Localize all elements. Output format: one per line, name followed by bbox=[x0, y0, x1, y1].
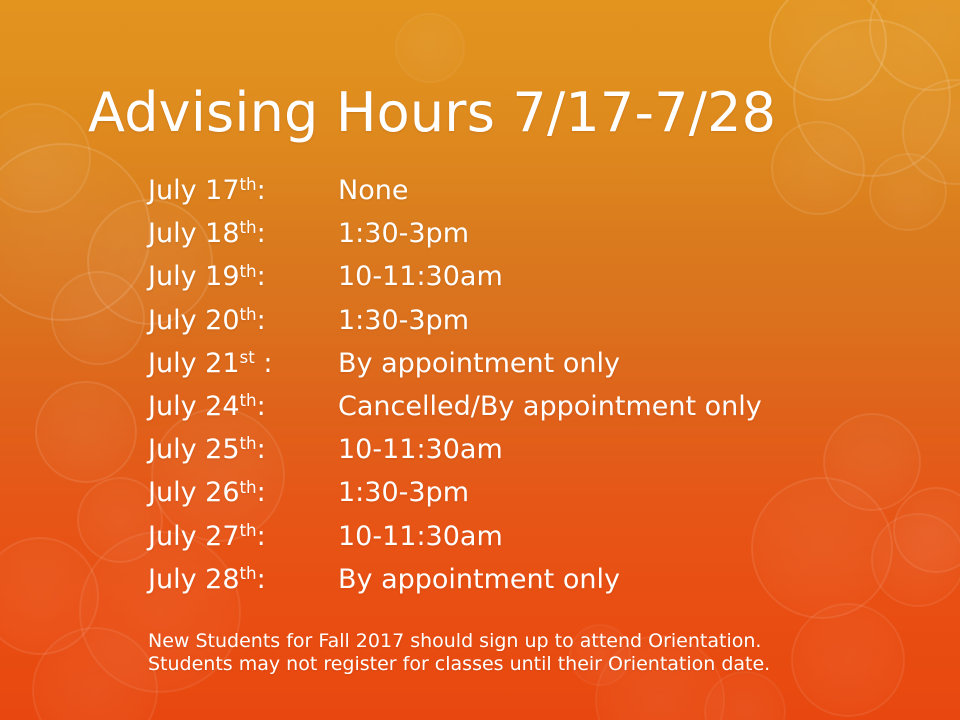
slide-canvas: Advising Hours 7/17-7/28 July 17th: None… bbox=[0, 0, 960, 720]
schedule-date: July 26th: bbox=[148, 476, 266, 510]
schedule-date: July 28th: bbox=[148, 563, 266, 597]
schedule-date-separator: : bbox=[257, 477, 266, 508]
ordinal-suffix: th bbox=[240, 217, 257, 237]
ordinal-suffix: th bbox=[240, 174, 257, 194]
schedule-date-prefix: July 27 bbox=[148, 521, 240, 552]
advising-hours-list: July 17th: None July 18th: 1:30-3pm July… bbox=[0, 174, 960, 606]
schedule-hours: None bbox=[338, 174, 408, 208]
schedule-date-prefix: July 26 bbox=[148, 477, 240, 508]
orientation-note: New Students for Fall 2017 should sign u… bbox=[148, 630, 770, 675]
schedule-date-prefix: July 24 bbox=[148, 391, 240, 422]
schedule-date-prefix: July 25 bbox=[148, 434, 240, 465]
schedule-hours: By appointment only bbox=[338, 563, 620, 597]
ordinal-suffix: st bbox=[240, 347, 255, 367]
schedule-date: July 24th: bbox=[148, 390, 266, 424]
schedule-hours: Cancelled/By appointment only bbox=[338, 390, 762, 424]
ordinal-suffix: th bbox=[240, 477, 257, 497]
list-item: July 24th: Cancelled/By appointment only bbox=[0, 390, 960, 433]
ordinal-suffix: th bbox=[240, 261, 257, 281]
ordinal-suffix: th bbox=[240, 563, 257, 583]
list-item: July 21st : By appointment only bbox=[0, 347, 960, 390]
schedule-date-separator: : bbox=[257, 391, 266, 422]
schedule-date: July 27th: bbox=[148, 520, 266, 554]
ordinal-suffix: th bbox=[240, 304, 257, 324]
schedule-date: July 20th: bbox=[148, 304, 266, 338]
schedule-date-prefix: July 21 bbox=[148, 348, 240, 379]
orientation-note-line-2: Students may not register for classes un… bbox=[148, 653, 770, 676]
page-title: Advising Hours 7/17-7/28 bbox=[88, 80, 776, 146]
schedule-date-prefix: July 17 bbox=[148, 175, 240, 206]
schedule-date: July 25th: bbox=[148, 433, 266, 467]
list-item: July 28th: By appointment only bbox=[0, 563, 960, 606]
schedule-hours: 1:30-3pm bbox=[338, 304, 469, 338]
schedule-date-separator: : bbox=[255, 348, 273, 379]
orientation-note-line-1: New Students for Fall 2017 should sign u… bbox=[148, 630, 770, 653]
list-item: July 17th: None bbox=[0, 174, 960, 217]
list-item: July 25th: 10-11:30am bbox=[0, 433, 960, 476]
ordinal-suffix: th bbox=[240, 433, 257, 453]
ordinal-suffix: th bbox=[240, 390, 257, 410]
schedule-hours: 1:30-3pm bbox=[338, 476, 469, 510]
schedule-date: July 17th: bbox=[148, 174, 266, 208]
schedule-date-prefix: July 20 bbox=[148, 305, 240, 336]
list-item: July 20th: 1:30-3pm bbox=[0, 304, 960, 347]
schedule-date-separator: : bbox=[257, 218, 266, 249]
list-item: July 19th: 10-11:30am bbox=[0, 260, 960, 303]
schedule-date-separator: : bbox=[257, 521, 266, 552]
list-item: July 27th: 10-11:30am bbox=[0, 520, 960, 563]
schedule-hours: 10-11:30am bbox=[338, 433, 503, 467]
schedule-date-separator: : bbox=[257, 305, 266, 336]
schedule-date: July 19th: bbox=[148, 260, 266, 294]
schedule-hours: 10-11:30am bbox=[338, 520, 503, 554]
schedule-hours: By appointment only bbox=[338, 347, 620, 381]
list-item: July 18th: 1:30-3pm bbox=[0, 217, 960, 260]
schedule-date-prefix: July 28 bbox=[148, 564, 240, 595]
ordinal-suffix: th bbox=[240, 520, 257, 540]
schedule-date-separator: : bbox=[257, 564, 266, 595]
schedule-date-prefix: July 18 bbox=[148, 218, 240, 249]
schedule-date-separator: : bbox=[257, 261, 266, 292]
schedule-date: July 21st : bbox=[148, 347, 272, 381]
schedule-hours: 10-11:30am bbox=[338, 260, 503, 294]
list-item: July 26th: 1:30-3pm bbox=[0, 476, 960, 519]
schedule-date-separator: : bbox=[257, 434, 266, 465]
schedule-hours: 1:30-3pm bbox=[338, 217, 469, 251]
schedule-date-prefix: July 19 bbox=[148, 261, 240, 292]
schedule-date: July 18th: bbox=[148, 217, 266, 251]
schedule-date-separator: : bbox=[257, 175, 266, 206]
